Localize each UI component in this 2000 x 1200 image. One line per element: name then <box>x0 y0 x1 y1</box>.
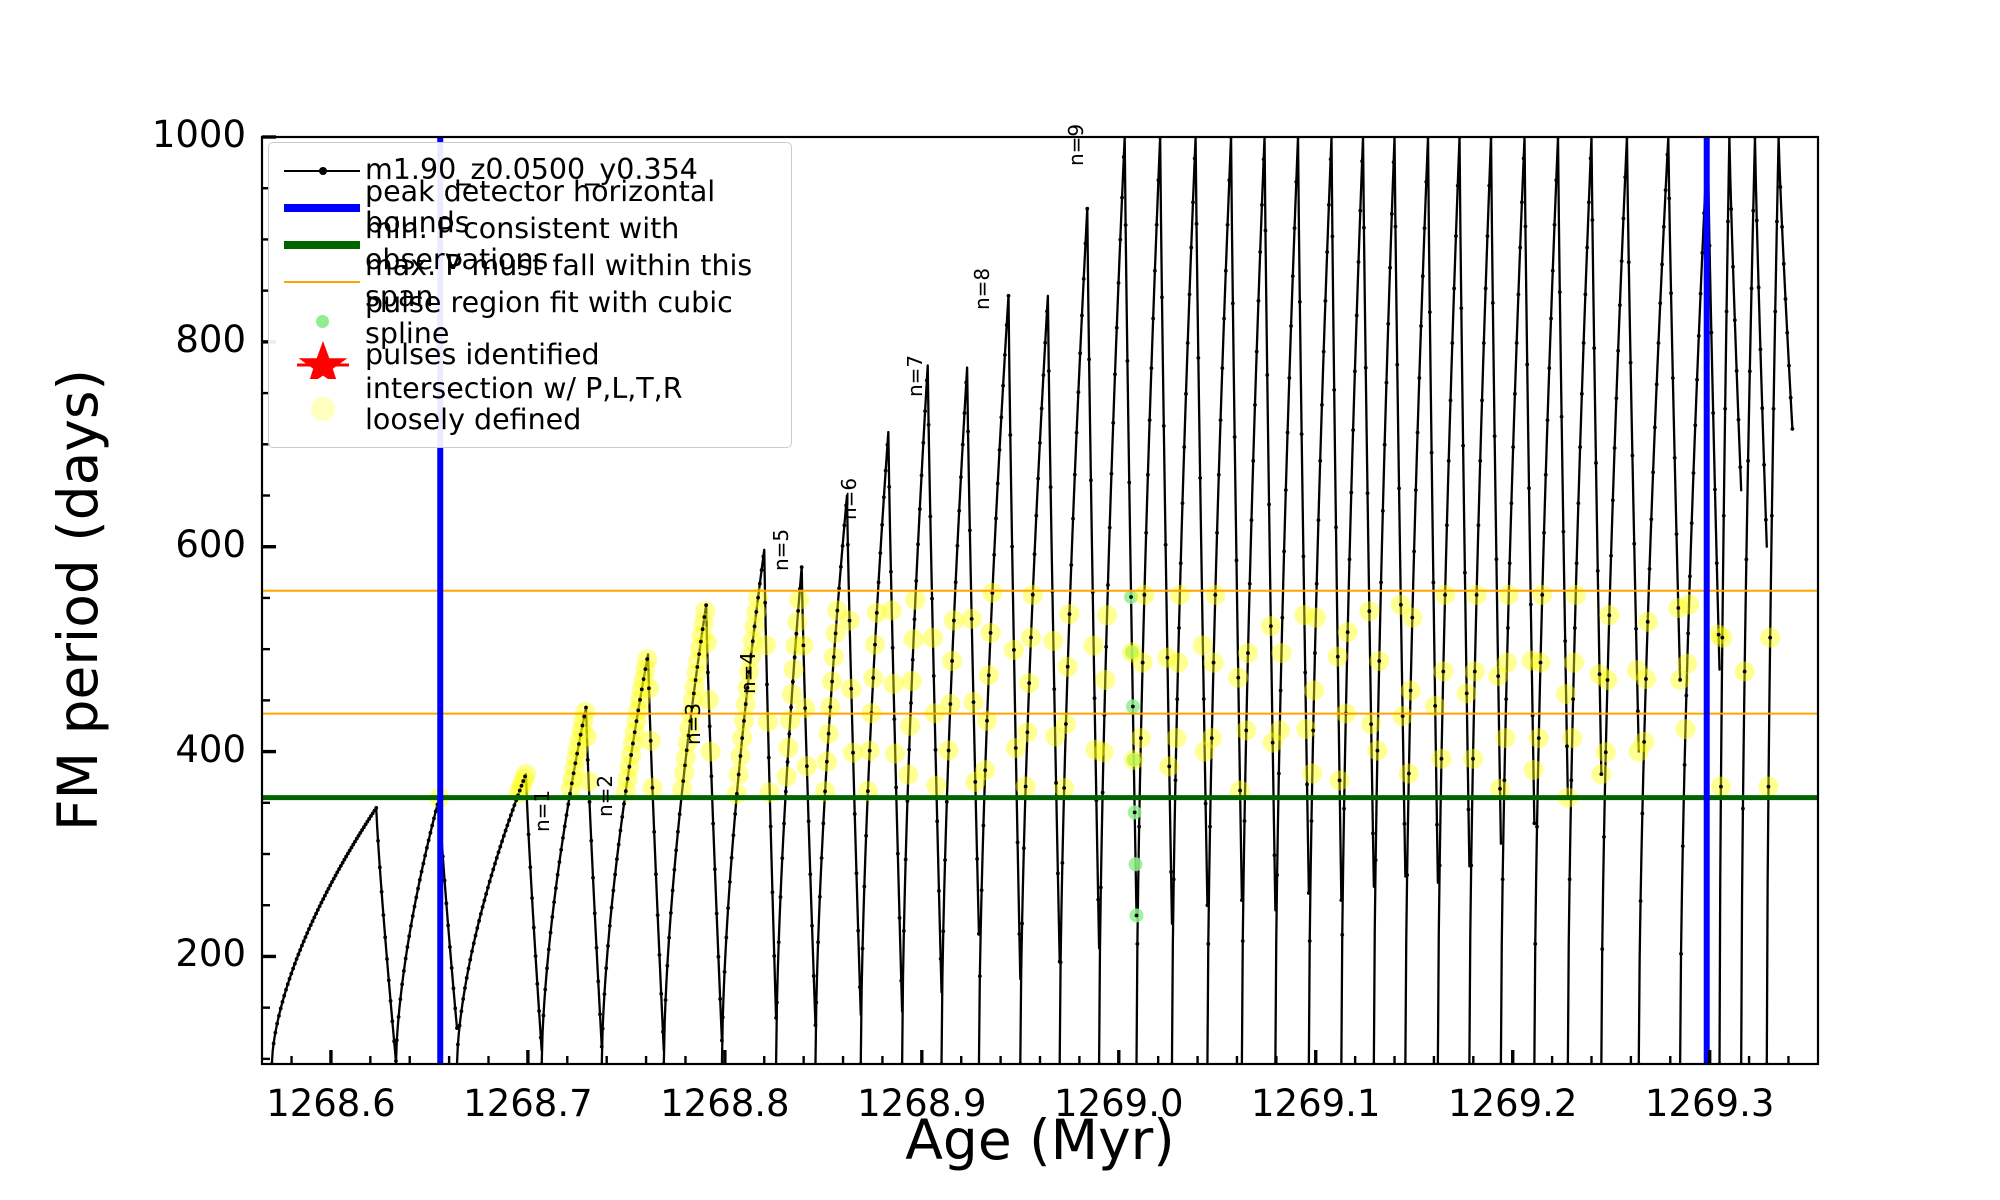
x-tick-label: 1268.7 <box>463 1082 592 1125</box>
x-tick-label: 1268.6 <box>266 1082 395 1125</box>
peak-index-label: n=2 <box>593 774 617 816</box>
y-tick-label: 600 <box>175 523 246 566</box>
x-tick-label: 1268.8 <box>660 1082 789 1125</box>
green-thick-line-icon <box>279 228 365 262</box>
peak-index-label: n=6 <box>837 477 861 519</box>
legend-label-pulses: pulses identified <box>365 340 600 371</box>
x-tick-label: 1269.2 <box>1448 1082 1577 1125</box>
legend-label-intersection-line-2: loosely defined <box>365 405 683 436</box>
legend-item-intersection[interactable]: intersection w/ P,L,T,Rloosely defined <box>279 374 781 436</box>
y-tick-label: 200 <box>175 932 246 975</box>
green-dot-icon <box>279 302 365 336</box>
peak-index-label: n=7 <box>903 354 927 396</box>
legend: m1.90_z0.0500_y0.354 peak detector horiz… <box>268 142 792 448</box>
y-tick-label: 1000 <box>152 113 246 156</box>
red-star-icon <box>279 339 365 373</box>
black-line-marker-icon <box>279 154 365 188</box>
peak-index-label: n=8 <box>970 267 994 309</box>
x-tick-label: 1269.1 <box>1251 1082 1380 1125</box>
pale-yellow-dot-icon <box>279 388 365 422</box>
peak-index-label: n=9 <box>1064 124 1088 166</box>
y-axis-label: FM period (days) <box>46 369 110 831</box>
peak-index-label: n=5 <box>769 529 793 571</box>
legend-label-intersection-line-1: intersection w/ P,L,T,R <box>365 374 683 405</box>
legend-item-spline[interactable]: pulse region fit with cubic spline <box>279 300 781 337</box>
x-tick-label: 1268.9 <box>857 1082 986 1125</box>
x-tick-label: 1269.0 <box>1054 1082 1183 1125</box>
x-tick-label: 1269.3 <box>1645 1082 1774 1125</box>
figure-canvas: FM period (days) Age (Myr) 2004006008001… <box>0 0 2000 1200</box>
legend-label-intersection: intersection w/ P,L,T,Rloosely defined <box>365 374 683 436</box>
y-tick-label: 400 <box>175 728 246 771</box>
blue-thick-line-icon <box>279 191 365 225</box>
orange-thin-line-icon <box>279 265 365 299</box>
y-tick-label: 800 <box>175 318 246 361</box>
peak-index-label: n=3 <box>681 703 705 745</box>
peak-index-label: n=1 <box>530 790 554 832</box>
peak-index-label: n=4 <box>736 651 760 693</box>
